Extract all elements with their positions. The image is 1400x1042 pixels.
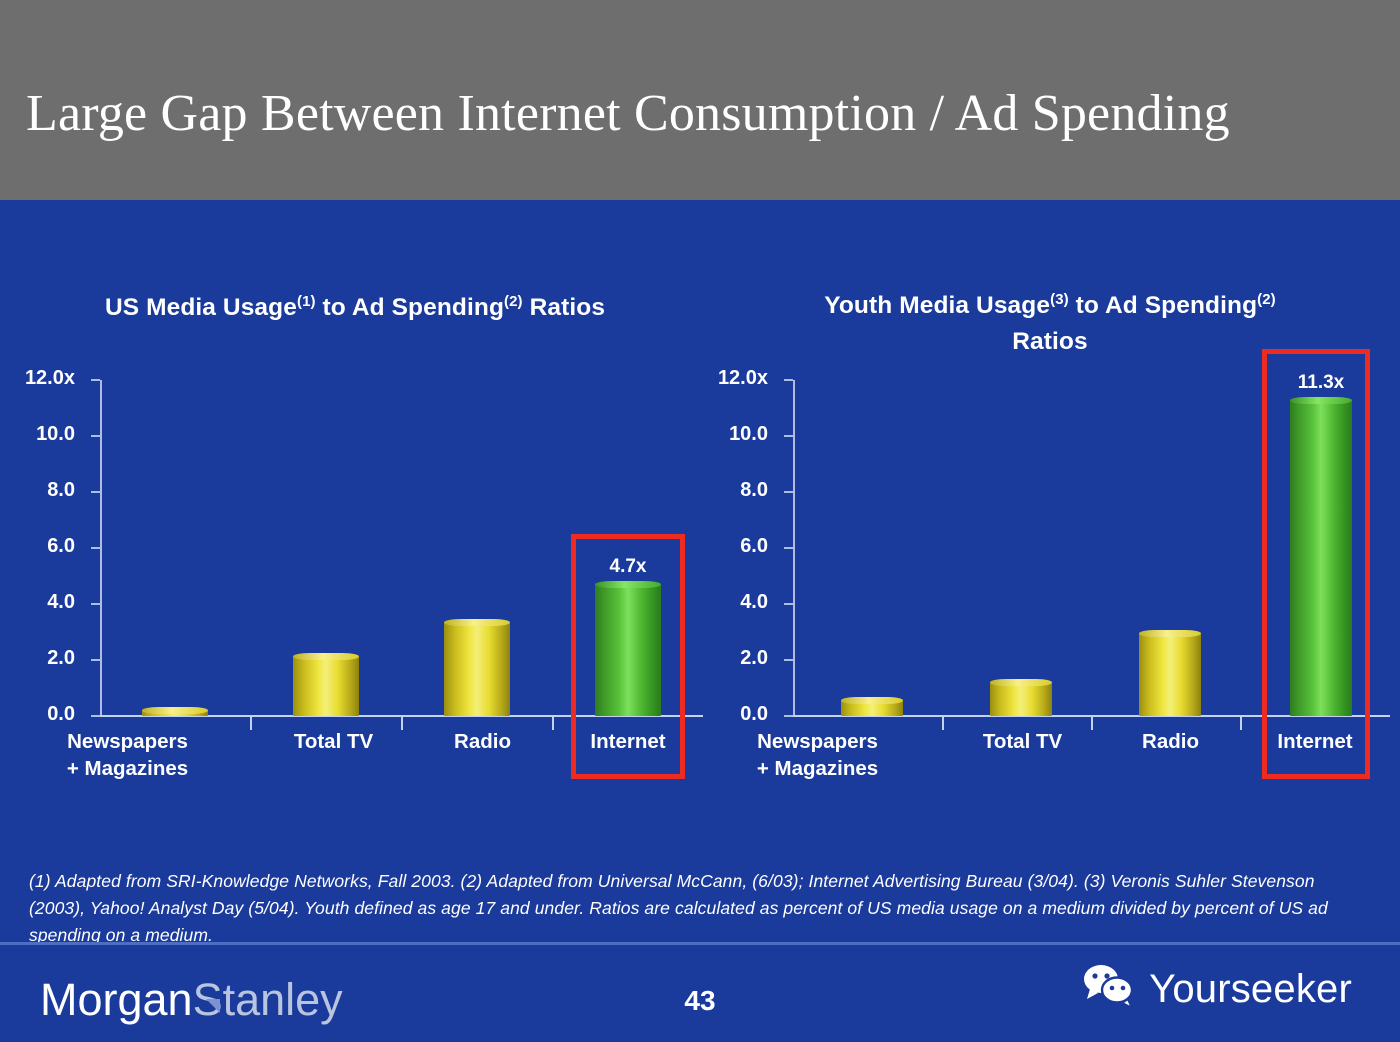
bar-radio xyxy=(444,622,510,716)
slide-footer: MorganStanley 43 xyxy=(0,945,1400,1042)
x-label-line-2: + Magazines xyxy=(20,755,235,782)
chart-panel-youth-media-usage: Youth Media Usage(3) to Ad Spending(2) R… xyxy=(700,200,1400,800)
bar-fill xyxy=(1290,400,1352,716)
plot-area-us-media-usage: 12.0x 10.0 8.0 6.0 4.0 2.0 0.0 xyxy=(100,380,703,716)
bar-top-cap xyxy=(595,581,661,588)
bar-total-tv xyxy=(990,682,1052,716)
y-axis-line xyxy=(100,380,102,717)
y-tick-10: 10.0 xyxy=(91,435,100,437)
bar-top-cap xyxy=(841,697,903,704)
bar-fill xyxy=(990,682,1052,716)
y-axis-label-12: 12.0x xyxy=(25,367,75,390)
bar-top-cap xyxy=(1139,630,1201,637)
y-axis-label-8: 8.0 xyxy=(47,479,75,502)
x-axis-label-internet: Internet xyxy=(1220,728,1400,755)
y-axis-label-2: 2.0 xyxy=(740,647,768,670)
x-axis-label-newspapers-magazines: Newspapers + Magazines xyxy=(710,728,925,782)
chart-title-line-2: Ratios xyxy=(700,324,1400,360)
y-axis-label-6: 6.0 xyxy=(740,535,768,558)
slide-body: US Media Usage(1) to Ad Spending(2) Rati… xyxy=(0,200,1400,1042)
y-axis-label-4: 4.0 xyxy=(740,591,768,614)
y-axis-label-10: 10.0 xyxy=(729,423,768,446)
y-tick-8: 8.0 xyxy=(784,491,793,493)
y-axis-label-10: 10.0 xyxy=(36,423,75,446)
chart-title-superscript-1: (3) xyxy=(1050,291,1069,308)
y-axis-label-4: 4.0 xyxy=(47,591,75,614)
bar-fill xyxy=(444,622,510,716)
x-axis-label-internet: Internet xyxy=(533,728,723,755)
chart-title-part-1: Youth Media Usage xyxy=(824,292,1050,319)
chart-title-part-2: to Ad Spending xyxy=(316,294,504,321)
bar-internet: 4.7x xyxy=(595,584,661,716)
chart-title-us-media-usage: US Media Usage(1) to Ad Spending(2) Rati… xyxy=(0,290,710,326)
y-axis-label-0: 0.0 xyxy=(47,703,75,726)
y-tick-0: 0.0 xyxy=(784,715,793,717)
chart-title-youth-media-usage: Youth Media Usage(3) to Ad Spending(2) R… xyxy=(700,288,1400,360)
brand-name: Yourseeker xyxy=(1149,966,1352,1012)
chart-title-superscript-1: (1) xyxy=(297,293,316,310)
x-label-line-1: Newspapers xyxy=(20,728,235,755)
bar-value-label-internet: 4.7x xyxy=(610,556,647,578)
y-tick-8: 8.0 xyxy=(91,491,100,493)
bar-top-cap xyxy=(293,653,359,660)
bar-top-cap xyxy=(990,679,1052,686)
chart-panel-us-media-usage: US Media Usage(1) to Ad Spending(2) Rati… xyxy=(0,200,710,800)
y-tick-2: 2.0 xyxy=(784,659,793,661)
plot-area-youth-media-usage: 12.0x 10.0 8.0 6.0 4.0 2.0 0.0 xyxy=(793,380,1390,716)
y-tick-12: 12.0x xyxy=(784,379,793,381)
x-axis-label-newspapers-magazines: Newspapers + Magazines xyxy=(20,728,235,782)
footnote-text: (1) Adapted from SRI-Knowledge Networks,… xyxy=(29,868,1369,949)
chart-title-superscript-2: (2) xyxy=(504,293,523,310)
chart-title-part-3: Ratios xyxy=(523,294,605,321)
y-axis-label-8: 8.0 xyxy=(740,479,768,502)
brand-watermark: Yourseeker xyxy=(1081,963,1352,1014)
chart-title-part-2: to Ad Spending xyxy=(1069,292,1257,319)
bar-newspapers-magazines xyxy=(841,700,903,716)
y-tick-2: 2.0 xyxy=(91,659,100,661)
bar-radio xyxy=(1139,633,1201,716)
bar-value-label-internet: 11.3x xyxy=(1298,372,1345,394)
y-tick-4: 4.0 xyxy=(91,603,100,605)
y-axis-label-6: 6.0 xyxy=(47,535,75,558)
chart-title-superscript-2: (2) xyxy=(1257,291,1276,308)
bar-fill xyxy=(1139,633,1201,716)
y-tick-10: 10.0 xyxy=(784,435,793,437)
bar-total-tv xyxy=(293,656,359,716)
y-tick-6: 6.0 xyxy=(784,547,793,549)
bar-top-cap xyxy=(444,619,510,626)
chart-title-part-1: US Media Usage xyxy=(105,294,297,321)
y-tick-0: 0.0 xyxy=(91,715,100,717)
wechat-bubbles-icon xyxy=(1081,963,1137,1014)
bar-top-cap xyxy=(1290,397,1352,404)
y-axis-label-12: 12.0x xyxy=(718,367,768,390)
bar-internet: 11.3x xyxy=(1290,400,1352,716)
slide-header: Large Gap Between Internet Consumption /… xyxy=(0,0,1400,200)
page-title: Large Gap Between Internet Consumption /… xyxy=(26,84,1230,144)
y-tick-4: 4.0 xyxy=(784,603,793,605)
bar-fill xyxy=(595,584,661,716)
bar-fill xyxy=(293,656,359,716)
y-axis-label-0: 0.0 xyxy=(740,703,768,726)
x-label-line-2: + Magazines xyxy=(710,755,925,782)
y-axis-label-2: 2.0 xyxy=(47,647,75,670)
slide: Large Gap Between Internet Consumption /… xyxy=(0,0,1400,1042)
x-label-line-1: Newspapers xyxy=(710,728,925,755)
bar-newspapers-magazines xyxy=(142,710,208,716)
y-tick-12: 12.0x xyxy=(91,379,100,381)
y-axis-line xyxy=(793,380,795,717)
bar-top-cap xyxy=(142,707,208,714)
y-tick-6: 6.0 xyxy=(91,547,100,549)
